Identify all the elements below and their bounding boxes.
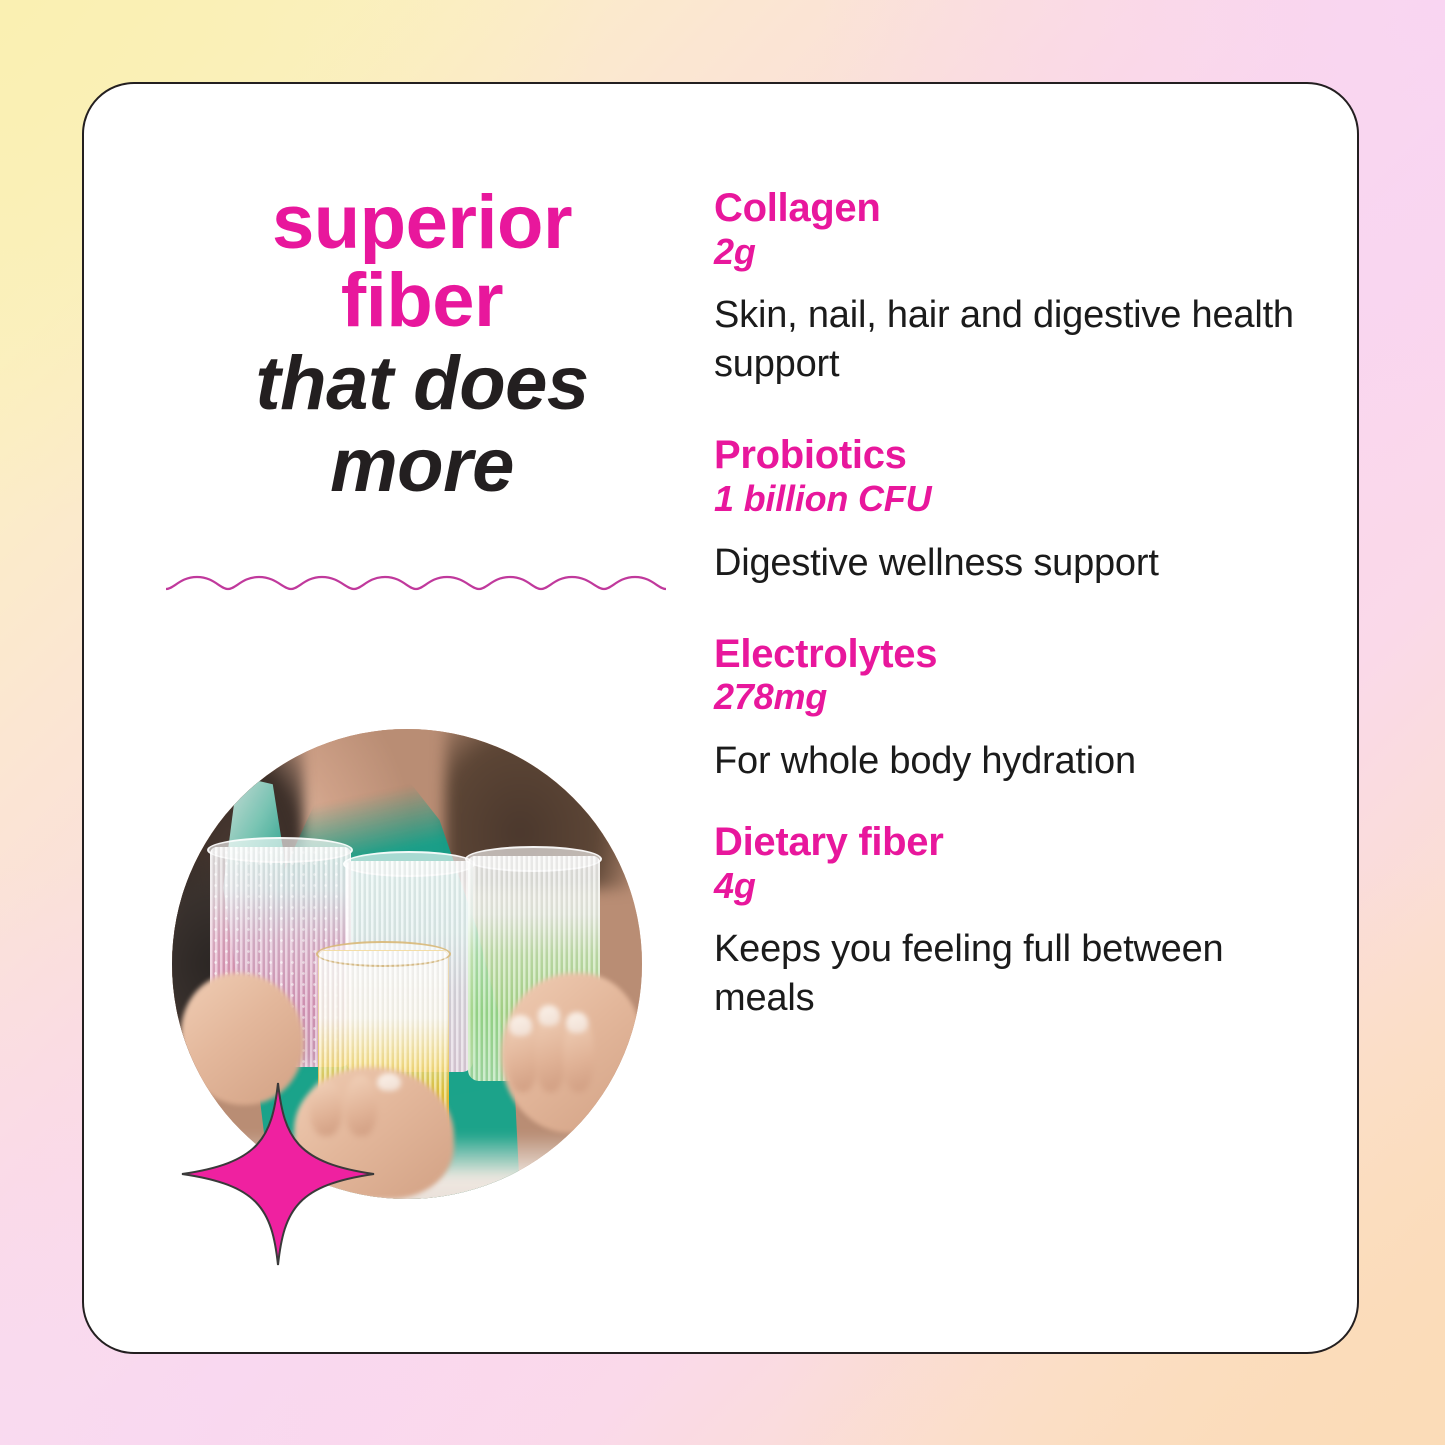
sparkle-star-icon xyxy=(180,1081,376,1267)
nutrient-name: Electrolytes xyxy=(714,632,1314,677)
headline-line-1: superior xyxy=(162,184,682,262)
fingernail xyxy=(377,1073,401,1091)
headline-line-4: more xyxy=(162,427,682,505)
list-item: Collagen 2g Skin, nail, hair and digesti… xyxy=(714,186,1314,389)
fingernail xyxy=(566,1012,589,1033)
hand-right xyxy=(501,973,642,1133)
nutrient-amount: 1 billion CFU xyxy=(714,478,1314,520)
nutrient-amount: 4g xyxy=(714,865,1314,907)
lifestyle-photo xyxy=(172,729,642,1199)
glass-rim xyxy=(316,941,451,967)
nutrient-description: For whole body hydration xyxy=(714,737,1314,786)
page-title: superior fiber that does more xyxy=(162,184,682,505)
glass-rim xyxy=(465,846,602,872)
nutrient-description: Skin, nail, hair and digestive health su… xyxy=(714,291,1314,389)
nutrient-name: Dietary fiber xyxy=(714,820,1314,865)
wavy-line-icon xyxy=(166,567,666,601)
nutrient-amount: 2g xyxy=(714,231,1314,273)
fingernail xyxy=(538,1005,561,1026)
nutrient-list: Collagen 2g Skin, nail, hair and digesti… xyxy=(714,186,1314,1023)
glass-rim xyxy=(343,851,475,877)
left-column: superior fiber that does more xyxy=(162,184,682,601)
headline-line-3: that does xyxy=(162,345,682,423)
nutrient-name: Probiotics xyxy=(714,433,1314,478)
list-item: Dietary fiber 4g Keeps you feeling full … xyxy=(714,820,1314,1023)
list-item: Electrolytes 278mg For whole body hydrat… xyxy=(714,632,1314,786)
nutrient-description: Digestive wellness support xyxy=(714,539,1314,588)
nutrient-name: Collagen xyxy=(714,186,1314,231)
nutrient-amount: 278mg xyxy=(714,676,1314,718)
fingernail xyxy=(509,1015,532,1036)
product-benefits-card: superior fiber that does more xyxy=(82,82,1359,1354)
nutrient-description: Keeps you feeling full between meals xyxy=(714,925,1314,1023)
wavy-divider xyxy=(166,567,666,601)
headline-line-2: fiber xyxy=(162,262,682,340)
infographic-page: superior fiber that does more xyxy=(0,0,1445,1445)
list-item: Probiotics 1 billion CFU Digestive welln… xyxy=(714,433,1314,587)
